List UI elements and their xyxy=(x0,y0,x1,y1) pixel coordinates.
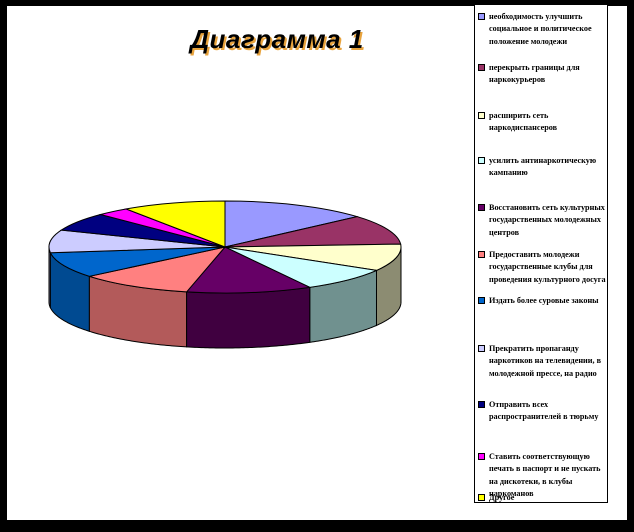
legend-item-label: Издать более суровые законы xyxy=(489,295,599,307)
legend-item[interactable]: Предоставить молодежи государственные кл… xyxy=(478,249,606,286)
legend-item[interactable]: Другое xyxy=(478,492,606,503)
legend-swatch-icon xyxy=(478,13,485,20)
legend-item[interactable]: усилить антинаркотическую кампанию xyxy=(478,155,606,180)
legend-item[interactable]: перекрыть границы для наркокурьеров xyxy=(478,62,606,87)
legend-swatch-icon xyxy=(478,251,485,258)
legend-item-label: Прекратить пропаганду наркотиков на теле… xyxy=(489,343,606,380)
legend-swatch-icon xyxy=(478,345,485,352)
legend-swatch-icon xyxy=(478,453,485,460)
legend-item[interactable]: расширить сеть наркодиспансеров xyxy=(478,110,606,135)
legend-swatch-icon xyxy=(478,401,485,408)
legend-item[interactable]: Отправить всех распространителей в тюрьм… xyxy=(478,399,606,424)
legend-swatch-icon xyxy=(478,112,485,119)
legend-swatch-icon xyxy=(478,297,485,304)
legend-swatch-icon xyxy=(478,494,485,501)
legend-item-label: расширить сеть наркодиспансеров xyxy=(489,110,606,135)
legend-swatch-icon xyxy=(478,64,485,71)
legend-item[interactable]: Прекратить пропаганду наркотиков на теле… xyxy=(478,343,606,380)
legend-item-label: Другое xyxy=(489,492,514,503)
legend-swatch-icon xyxy=(478,157,485,164)
pie-chart-svg xyxy=(43,196,403,356)
legend-item-label: Отправить всех распространителей в тюрьм… xyxy=(489,399,606,424)
chart-frame: Диаграмма 1 необходимость улучшить социа… xyxy=(6,5,628,521)
pie-chart-area xyxy=(7,6,473,520)
pie-slice-side xyxy=(187,287,310,348)
pie-tops-group xyxy=(49,201,401,293)
legend-item-label: необходимость улучшить социальное и поли… xyxy=(489,11,606,48)
legend-item-label: перекрыть границы для наркокурьеров xyxy=(489,62,606,87)
legend-item[interactable]: Восстановить сеть культурных государстве… xyxy=(478,202,606,239)
legend: необходимость улучшить социальное и поли… xyxy=(474,4,608,503)
legend-item-label: усилить антинаркотическую кампанию xyxy=(489,155,606,180)
pie-3d-wrapper xyxy=(43,196,403,356)
legend-item-label: Восстановить сеть культурных государстве… xyxy=(489,202,606,239)
legend-item[interactable]: необходимость улучшить социальное и поли… xyxy=(478,11,606,48)
legend-swatch-icon xyxy=(478,204,485,211)
legend-item-label: Предоставить молодежи государственные кл… xyxy=(489,249,606,286)
legend-item[interactable]: Издать более суровые законы xyxy=(478,295,606,307)
